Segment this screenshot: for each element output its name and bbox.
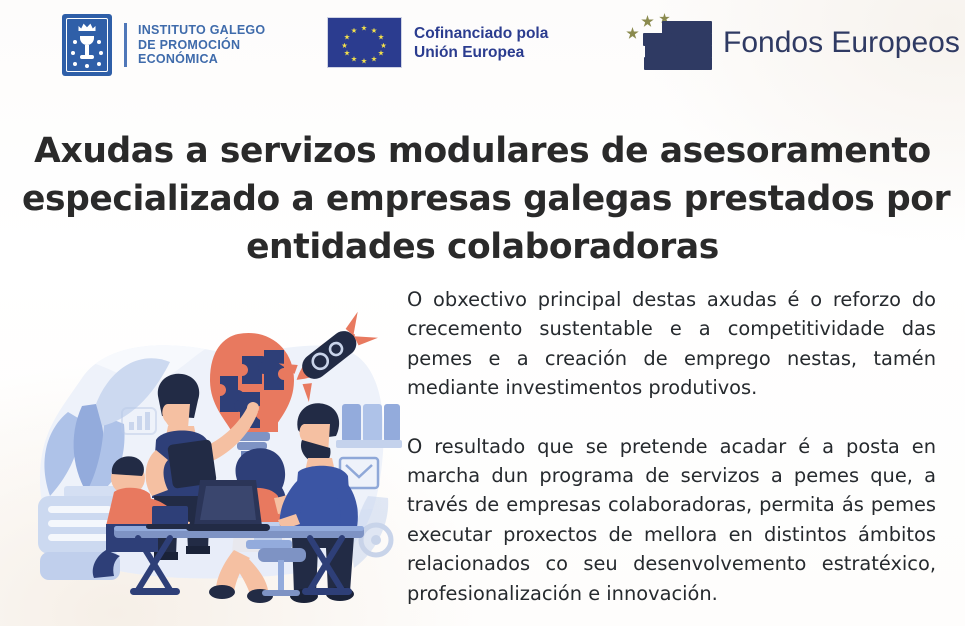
fondos-europeos-mark-icon [618, 9, 714, 77]
igpe-logo: INSTITUTO GALEGO DE PROMOCIÓN ECONÓMICA [62, 14, 265, 76]
eu-line-1: Cofinanciado pola [414, 24, 548, 43]
eu-wordmark: Cofinanciado pola Unión Europea [414, 24, 548, 62]
xunta-galicia-coat-of-arms-icon [62, 14, 112, 76]
eu-logo: Cofinanciado pola Unión Europea [327, 17, 548, 68]
igpe-line-2: DE PROMOCIÓN [138, 38, 265, 53]
page-title-line-1: Axudas a servizos modulares de asesorame… [22, 127, 943, 175]
team-collaboration-illustration [10, 300, 402, 616]
poster-page: INSTITUTO GALEGO DE PROMOCIÓN ECONÓMICA [0, 0, 965, 626]
igpe-wordmark: INSTITUTO GALEGO DE PROMOCIÓN ECONÓMICA [138, 23, 265, 67]
logo-bar: INSTITUTO GALEGO DE PROMOCIÓN ECONÓMICA [0, 0, 965, 88]
page-title: Axudas a servizos modulares de asesorame… [22, 127, 943, 271]
paragraph-objective: O obxectivo principal destas axudas é o … [407, 285, 936, 403]
fondos-europeos-label: Fondos Europeos [723, 26, 960, 60]
igpe-divider [124, 23, 127, 67]
igpe-line-1: INSTITUTO GALEGO [138, 23, 265, 38]
eu-line-2: Unión Europea [414, 43, 548, 62]
laptop-small-icon [146, 506, 194, 529]
page-title-line-3: entidades colaboradoras [22, 223, 943, 271]
page-title-line-2: especializado a empresas galegas prestad… [22, 175, 943, 223]
fondos-europeos-logo: Fondos Europeos [618, 9, 960, 77]
european-union-flag-icon [327, 17, 402, 68]
paragraph-result: O resultado que se pretende acadar é a p… [407, 432, 936, 608]
igpe-line-3: ECONÓMICA [138, 52, 265, 67]
body-text-column: O obxectivo principal destas axudas é o … [407, 285, 936, 608]
